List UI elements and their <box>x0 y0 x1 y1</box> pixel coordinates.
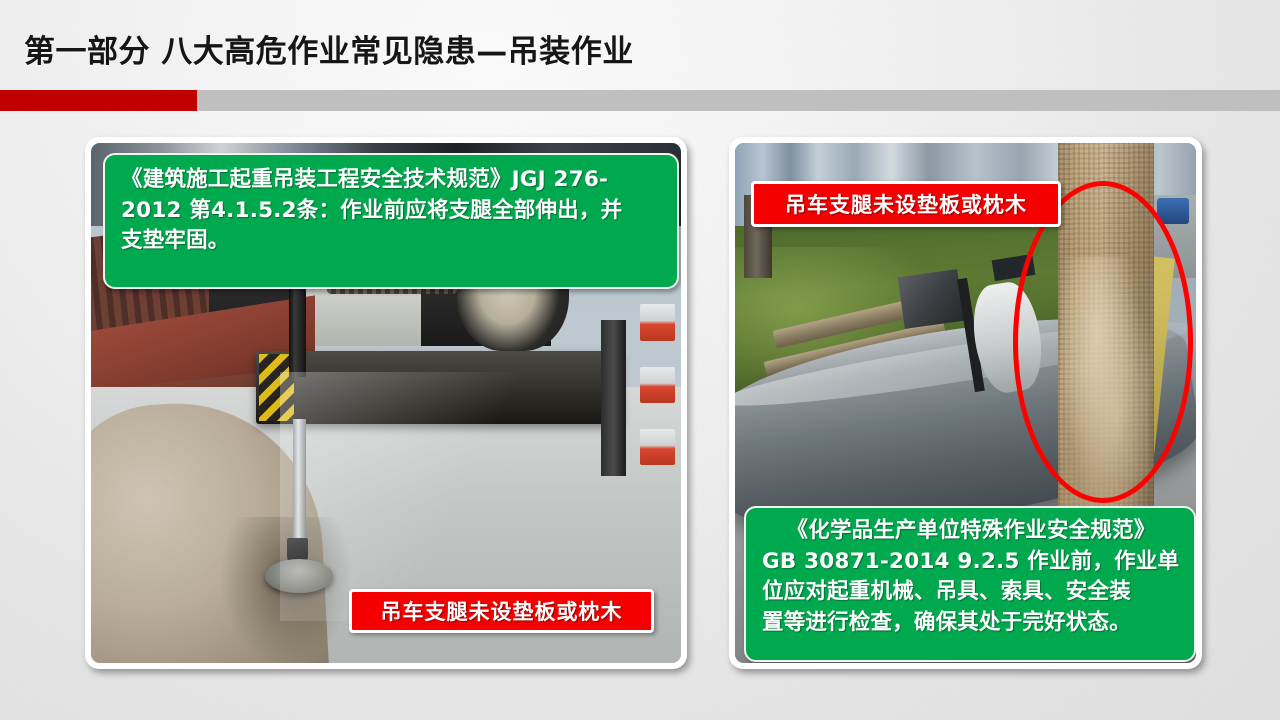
background-vehicle <box>1157 198 1189 224</box>
callout-line: 《建筑施工起重吊装工程安全技术规范》JGJ 276- <box>121 165 661 196</box>
title-divider-bar <box>0 90 1280 111</box>
divider-track-segment <box>197 90 1280 111</box>
page-title: 第一部分 八大高危作业常见隐患—吊装作业 <box>24 26 634 71</box>
outrigger-foot-pad <box>265 559 333 593</box>
traffic-cone-3 <box>640 429 675 465</box>
callout-line: 《化学品生产单位特殊作业安全规范》 <box>762 516 1180 547</box>
callout-line: GB 30871-2014 9.2.5 作业前，作业单 <box>762 547 1180 578</box>
photo-panel-left[interactable]: 《建筑施工起重吊装工程安全技术规范》JGJ 276- 2012 第4.1.5.2… <box>85 137 687 669</box>
callout-line: 2012 第4.1.5.2条：作业前应将支腿全部伸出，并 <box>121 196 661 227</box>
sandbag-fray-detail <box>1062 257 1150 517</box>
traffic-cone-2 <box>640 367 675 403</box>
steel-post <box>601 320 626 476</box>
hazard-label-left: 吊车支腿未设垫板或枕木 <box>349 589 654 633</box>
outrigger-beam <box>256 351 622 424</box>
steel-support-block <box>898 269 965 329</box>
callout-line: 置等进行检查，确保其处于完好状态。 <box>762 608 1180 639</box>
traffic-cone-1 <box>640 304 675 340</box>
standard-callout-left: 《建筑施工起重吊装工程安全技术规范》JGJ 276- 2012 第4.1.5.2… <box>103 153 679 289</box>
pipe-site-photo: 吊车支腿未设垫板或枕木 《化学品生产单位特殊作业安全规范》 GB 30871-2… <box>735 143 1196 663</box>
hazard-label-right: 吊车支腿未设垫板或枕木 <box>751 181 1061 227</box>
callout-line: 支垫牢固。 <box>121 226 661 257</box>
photo-panel-right[interactable]: 吊车支腿未设垫板或枕木 《化学品生产单位特殊作业安全规范》 GB 30871-2… <box>729 137 1202 669</box>
standard-callout-right: 《化学品生产单位特殊作业安全规范》 GB 30871-2014 9.2.5 作业… <box>744 506 1196 662</box>
crane-outrigger-photo: 《建筑施工起重吊装工程安全技术规范》JGJ 276- 2012 第4.1.5.2… <box>91 143 681 663</box>
divider-accent-segment <box>0 90 197 111</box>
slide-canvas: 第一部分 八大高危作业常见隐患—吊装作业 <box>0 0 1280 720</box>
callout-line: 位应对起重机械、吊具、索具、安全装 <box>762 577 1180 608</box>
